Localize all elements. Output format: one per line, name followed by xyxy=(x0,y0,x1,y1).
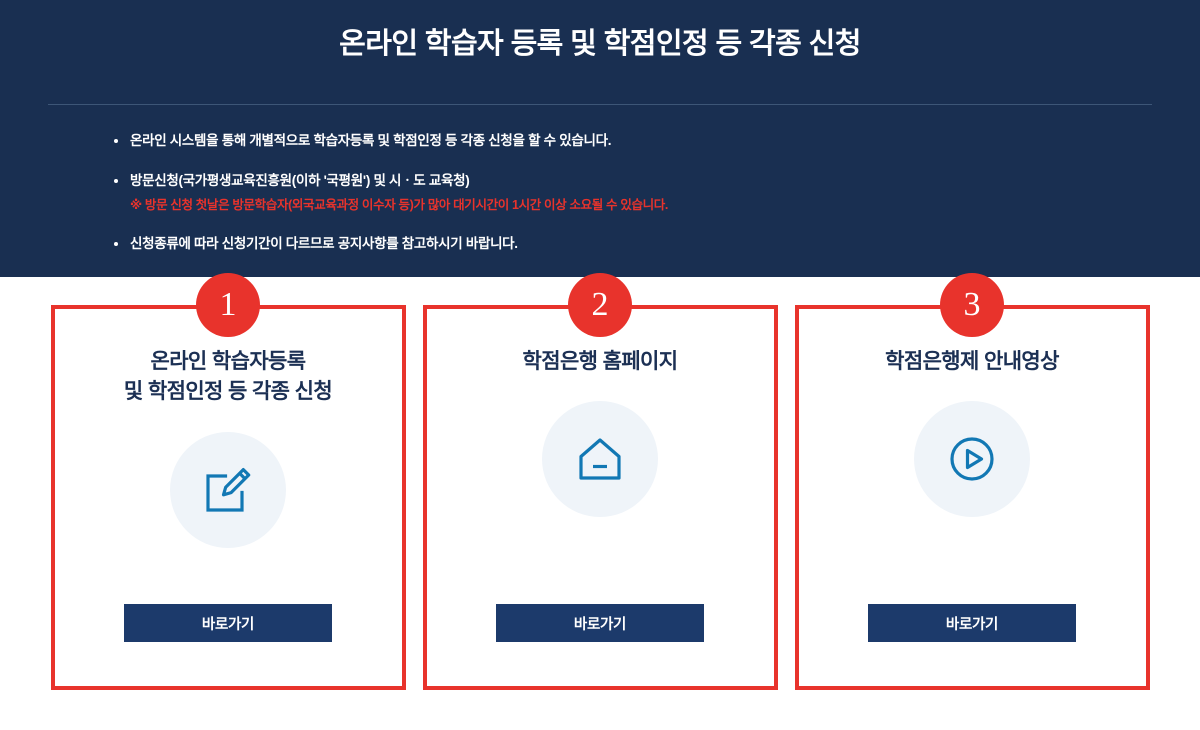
card-credit-bank-homepage[interactable]: 학점은행 홈페이지 바로가기 xyxy=(423,305,778,690)
card-wrapper-2: 학점은행 홈페이지 바로가기 2 xyxy=(423,305,778,690)
card-title-line-1: 학점은행 홈페이지 xyxy=(523,350,678,373)
icon-circle xyxy=(914,401,1030,517)
goto-button[interactable]: 바로가기 xyxy=(124,604,332,642)
card-badge-number: 2 xyxy=(568,273,632,337)
icon-circle xyxy=(170,432,286,548)
card-title: 학점은행제 안내영상 xyxy=(871,347,1073,377)
bullet-dot-icon xyxy=(114,242,118,246)
hero-bullet-list: 온라인 시스템을 통해 개별적으로 학습자등록 및 학점인정 등 각종 신청을 … xyxy=(112,131,1112,255)
card-badge-number: 1 xyxy=(196,273,260,337)
card-title: 온라인 학습자등록 및 학점인정 등 각종 신청 xyxy=(110,347,346,408)
hero-bullet-warning: ※ 방문 신청 첫날은 방문학습자(외국교육과정 이수자 등)가 많아 대기시간… xyxy=(130,196,1112,215)
home-icon xyxy=(569,428,631,490)
goto-button[interactable]: 바로가기 xyxy=(496,604,704,642)
hero-bullet-text: 온라인 시스템을 통해 개별적으로 학습자등록 및 학점인정 등 각종 신청을 … xyxy=(130,133,611,148)
card-wrapper-3: 학점은행제 안내영상 바로가기 3 xyxy=(795,305,1150,690)
hero-bullet-text: 신청종류에 따라 신청기간이 다르므로 공지사항를 참고하시기 바랍니다. xyxy=(130,236,518,251)
icon-circle xyxy=(542,401,658,517)
hero-bullet-item: 온라인 시스템을 통해 개별적으로 학습자등록 및 학점인정 등 각종 신청을 … xyxy=(112,131,1112,152)
hero-banner: 온라인 학습자 등록 및 학점인정 등 각종 신청 온라인 시스템을 통해 개별… xyxy=(0,0,1200,277)
page-title: 온라인 학습자 등록 및 학점인정 등 각종 신청 xyxy=(0,26,1200,64)
card-badge-number: 3 xyxy=(940,273,1004,337)
edit-document-icon xyxy=(197,459,259,521)
card-title-line-1: 학점은행제 안내영상 xyxy=(885,350,1059,373)
hero-divider xyxy=(48,104,1152,105)
hero-bullet-text: 방문신청(국가평생교육진흥원(이하 '국평원') 및 시ㆍ도 교육청) xyxy=(130,173,469,188)
card-guide-video[interactable]: 학점은행제 안내영상 바로가기 xyxy=(795,305,1150,690)
card-grid: 온라인 학습자등록 및 학점인정 등 각종 신청 바로가기 1 xyxy=(0,305,1200,690)
play-circle-icon xyxy=(941,428,1003,490)
goto-button[interactable]: 바로가기 xyxy=(868,604,1076,642)
bullet-dot-icon xyxy=(114,179,118,183)
card-wrapper-1: 온라인 학습자등록 및 학점인정 등 각종 신청 바로가기 1 xyxy=(51,305,406,690)
card-title: 학점은행 홈페이지 xyxy=(509,347,692,377)
page-root: 온라인 학습자 등록 및 학점인정 등 각종 신청 온라인 시스템을 통해 개별… xyxy=(0,0,1200,730)
hero-bullet-item: 신청종류에 따라 신청기간이 다르므로 공지사항를 참고하시기 바랍니다. xyxy=(112,234,1112,255)
hero-bullet-item: 방문신청(국가평생교육진흥원(이하 '국평원') 및 시ㆍ도 교육청) ※ 방문… xyxy=(112,171,1112,215)
card-title-line-2: 및 학점인정 등 각종 신청 xyxy=(124,380,332,403)
card-online-registration[interactable]: 온라인 학습자등록 및 학점인정 등 각종 신청 바로가기 xyxy=(51,305,406,690)
card-title-line-1: 온라인 학습자등록 xyxy=(150,350,305,373)
bullet-dot-icon xyxy=(114,139,118,143)
